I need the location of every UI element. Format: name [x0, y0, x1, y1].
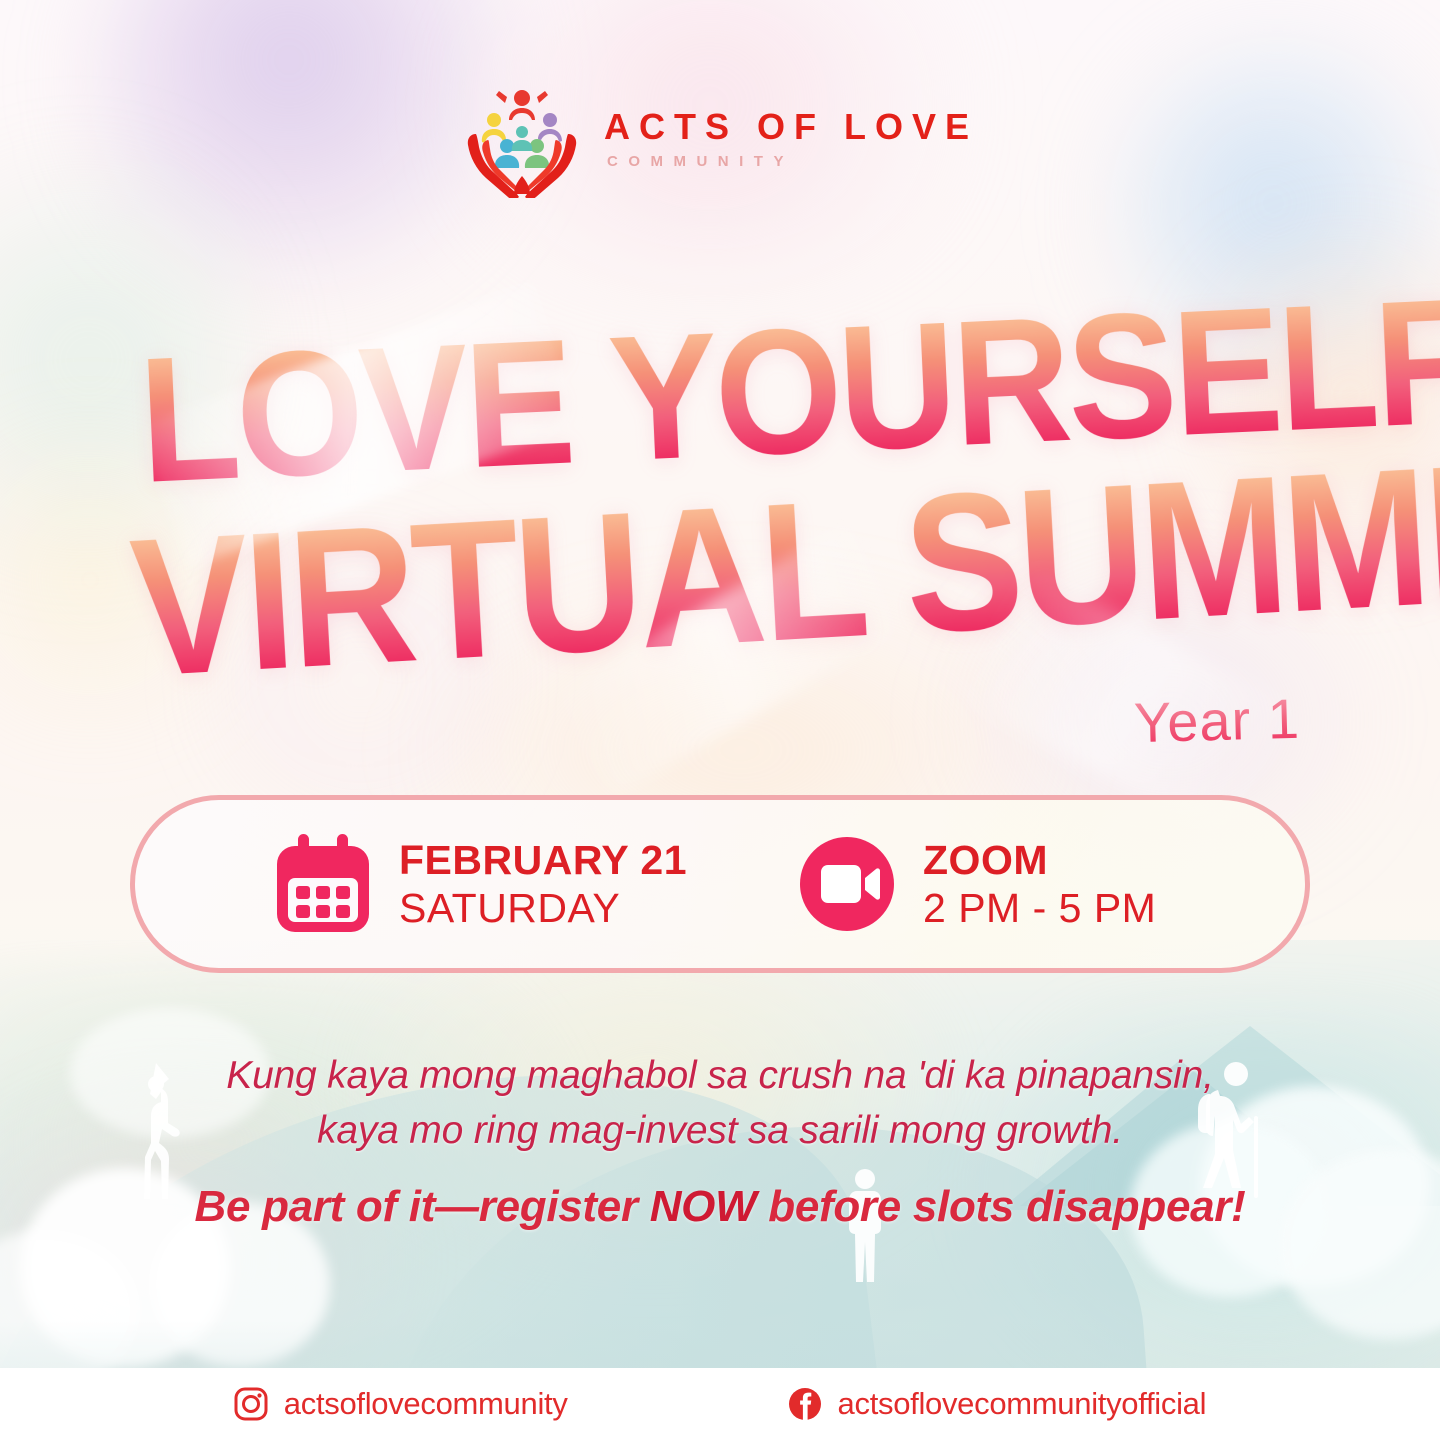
event-platform-secondary: 2 PM - 5 PM — [923, 886, 1156, 930]
event-date-text: FEBRUARY 21 SATURDAY — [399, 838, 687, 931]
event-date-primary: FEBRUARY 21 — [399, 838, 687, 882]
brand-logo: ACTS OF LOVE COMMUNITY — [0, 80, 1440, 198]
event-platform-text: ZOOM 2 PM - 5 PM — [923, 838, 1156, 931]
event-details-bar: FEBRUARY 21 SATURDAY ZOOM 2 PM - 5 PM — [130, 795, 1310, 973]
event-date-secondary: SATURDAY — [399, 886, 687, 930]
event-platform-group: ZOOM 2 PM - 5 PM — [799, 836, 1156, 932]
tagline-block: Kung kaya mong maghabol sa crush na 'di … — [0, 1048, 1440, 1159]
brand-name: ACTS OF LOVE — [604, 109, 978, 145]
instagram-icon — [234, 1387, 268, 1421]
instagram-link[interactable]: actsoflovecommunity — [234, 1386, 568, 1422]
facebook-link[interactable]: actsoflovecommunityofficial — [788, 1386, 1207, 1422]
year-badge: Year 1 — [1133, 686, 1301, 755]
tagline-line-two: kaya mo ring mag-invest sa sarili mong g… — [0, 1103, 1440, 1158]
hands-holding-people-icon — [462, 80, 582, 198]
event-date-group: FEBRUARY 21 SATURDAY — [275, 834, 687, 934]
instagram-handle: actsoflovecommunity — [284, 1386, 568, 1422]
tagline-line-one: Kung kaya mong maghabol sa crush na 'di … — [0, 1048, 1440, 1103]
brand-wordmark: ACTS OF LOVE COMMUNITY — [604, 109, 978, 169]
cta-after: before slots disappear! — [756, 1182, 1245, 1231]
cta-before: Be part of it—register — [195, 1182, 650, 1231]
facebook-icon — [788, 1387, 822, 1421]
poster-canvas: ACTS OF LOVE COMMUNITY LOVE YOURSELF VIR… — [0, 0, 1440, 1440]
cta-emphasis: NOW — [650, 1182, 757, 1231]
calendar-icon — [275, 834, 371, 934]
social-footer: actsoflovecommunity actsoflovecommunityo… — [0, 1368, 1440, 1440]
event-platform-primary: ZOOM — [923, 838, 1156, 882]
facebook-handle: actsoflovecommunityofficial — [838, 1386, 1207, 1422]
cta-text: Be part of it—register NOW before slots … — [0, 1182, 1440, 1232]
headline-block: LOVE YOURSELF VIRTUAL SUMMIT Year 1 — [0, 300, 1440, 760]
zoom-video-camera-icon — [799, 836, 895, 932]
brand-tagline: COMMUNITY — [607, 154, 794, 169]
